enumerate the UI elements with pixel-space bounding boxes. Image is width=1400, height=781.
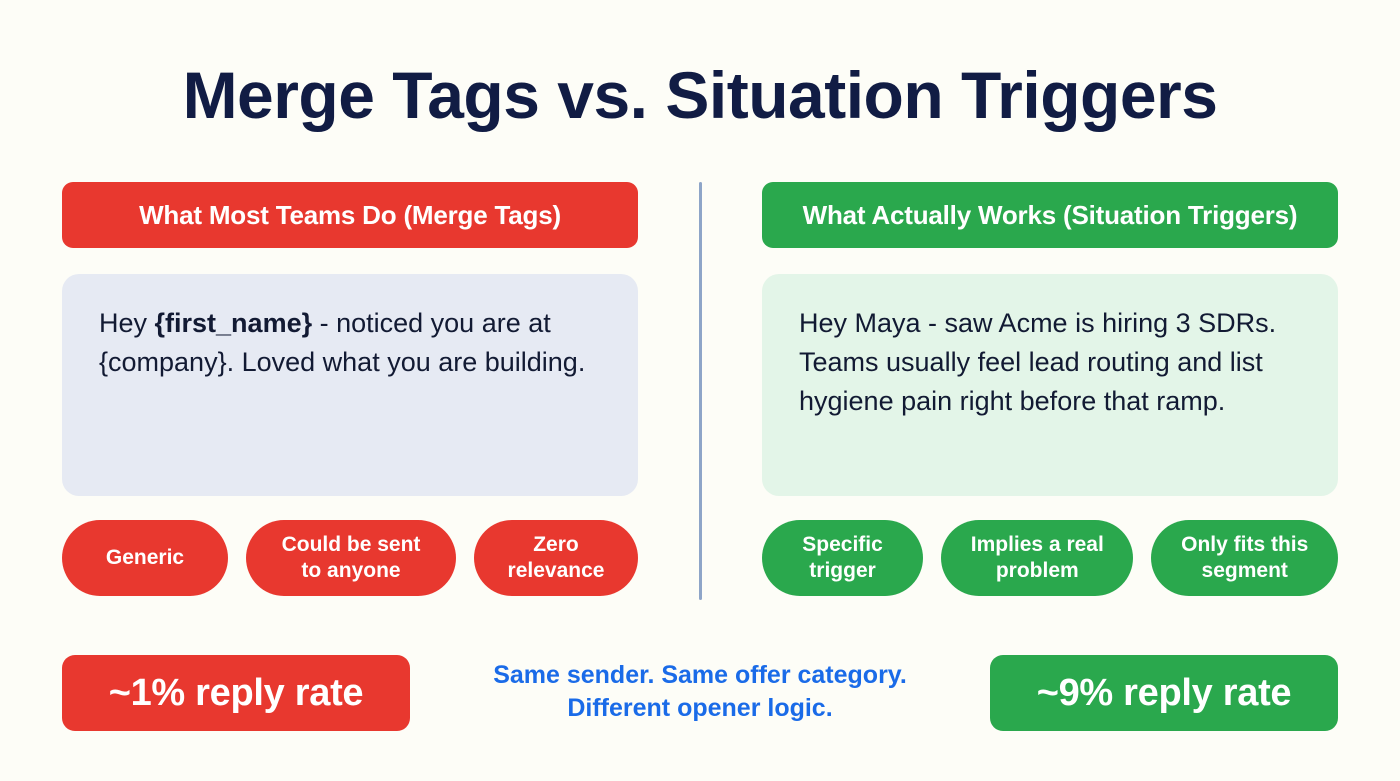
pill-could-be-sent: Could be sent to anyone	[246, 520, 456, 596]
infographic-slide: Merge Tags vs. Situation Triggers What M…	[0, 0, 1400, 781]
situation-triggers-message-card: Hey Maya - saw Acme is hiring 3 SDRs. Te…	[762, 274, 1338, 496]
merge-tags-message-card: Hey {first_name} - noticed you are at {c…	[62, 274, 638, 496]
bottom-summary-row: ~1% reply rate Same sender. Same offer c…	[0, 655, 1400, 731]
pill-implies-problem: Implies a real problem	[941, 520, 1133, 596]
pill-specific-trigger: Specific trigger	[762, 520, 923, 596]
column-divider	[699, 182, 702, 600]
pill-generic: Generic	[62, 520, 228, 596]
merge-tag-token: {first_name}	[155, 308, 313, 338]
merge-tags-column: What Most Teams Do (Merge Tags) Hey {fir…	[62, 182, 638, 596]
merge-tags-reply-rate-badge: ~1% reply rate	[62, 655, 410, 731]
situation-triggers-pill-row: Specific trigger Implies a real problem …	[762, 520, 1338, 596]
message-prefix: Hey	[99, 308, 155, 338]
center-note: Same sender. Same offer category. Differ…	[430, 659, 970, 725]
pill-zero-relevance: Zero relevance	[474, 520, 638, 596]
situation-triggers-header: What Actually Works (Situation Triggers)	[762, 182, 1338, 248]
situation-triggers-column: What Actually Works (Situation Triggers)…	[762, 182, 1338, 596]
page-title: Merge Tags vs. Situation Triggers	[0, 56, 1400, 134]
merge-tags-pill-row: Generic Could be sent to anyone Zero rel…	[62, 520, 638, 596]
pill-only-fits-segment: Only fits this segment	[1151, 520, 1338, 596]
merge-tags-header: What Most Teams Do (Merge Tags)	[62, 182, 638, 248]
situation-triggers-reply-rate-badge: ~9% reply rate	[990, 655, 1338, 731]
